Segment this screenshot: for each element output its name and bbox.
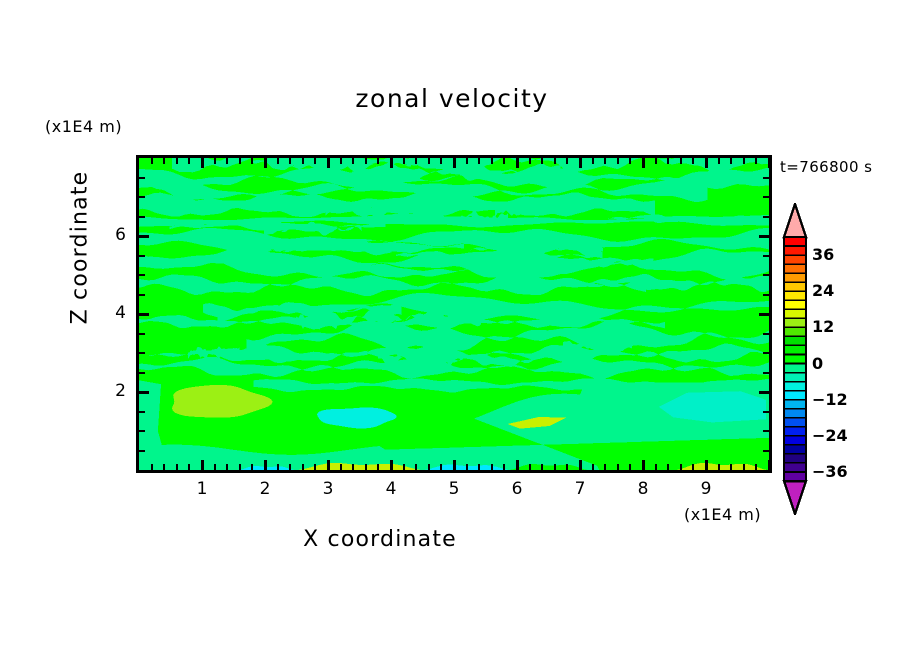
x-tick-label: 2 bbox=[245, 479, 285, 499]
axis-tick bbox=[692, 158, 694, 164]
colorbar-tick-label: −24 bbox=[812, 426, 848, 445]
axis-tick bbox=[139, 177, 145, 179]
axis-tick bbox=[529, 464, 531, 470]
axis-tick bbox=[139, 333, 145, 335]
axis-tick bbox=[239, 158, 241, 164]
axis-tick bbox=[277, 464, 279, 470]
axis-tick bbox=[139, 255, 145, 257]
axis-tick bbox=[163, 464, 165, 470]
axis-tick bbox=[176, 158, 178, 164]
axis-tick bbox=[617, 158, 619, 164]
axis-tick bbox=[264, 158, 267, 168]
axis-tick bbox=[759, 313, 769, 316]
axis-tick bbox=[139, 391, 149, 394]
colorbar-tick-label: 24 bbox=[812, 281, 834, 300]
x-tick-label: 3 bbox=[308, 479, 348, 499]
axis-tick bbox=[763, 196, 769, 198]
axis-tick bbox=[692, 464, 694, 470]
axis-tick bbox=[340, 464, 342, 470]
colorbar bbox=[780, 203, 810, 515]
time-stamp: t=766800 s bbox=[780, 158, 872, 176]
axis-tick bbox=[163, 158, 165, 164]
plot-canvas: zonal velocity (x1E4 m) (x1E4 m) t=76680… bbox=[0, 0, 904, 654]
axis-tick bbox=[139, 411, 145, 413]
axis-tick bbox=[314, 158, 316, 164]
axis-tick bbox=[516, 460, 519, 470]
x-tick-label: 8 bbox=[623, 479, 663, 499]
axis-tick bbox=[579, 158, 582, 168]
axis-tick bbox=[377, 464, 379, 470]
axis-tick bbox=[541, 158, 543, 164]
axis-tick bbox=[768, 460, 771, 470]
axis-tick bbox=[340, 158, 342, 164]
axis-tick bbox=[453, 460, 456, 470]
colorbar-tick-label: −36 bbox=[812, 462, 848, 481]
axis-tick bbox=[428, 464, 430, 470]
axis-tick bbox=[566, 464, 568, 470]
axis-tick bbox=[139, 294, 145, 296]
axis-tick bbox=[617, 464, 619, 470]
x-tick-label: 1 bbox=[182, 479, 222, 499]
axis-tick bbox=[214, 158, 216, 164]
axis-tick bbox=[503, 158, 505, 164]
axis-tick bbox=[302, 464, 304, 470]
axis-tick bbox=[705, 158, 708, 168]
axis-tick bbox=[604, 464, 606, 470]
axis-tick bbox=[763, 216, 769, 218]
axis-tick bbox=[763, 411, 769, 413]
axis-tick bbox=[139, 450, 145, 452]
x-tick-label: 5 bbox=[434, 479, 474, 499]
axis-tick bbox=[453, 158, 456, 168]
axis-tick bbox=[139, 235, 149, 238]
axis-tick bbox=[763, 255, 769, 257]
axis-tick bbox=[403, 464, 405, 470]
axis-tick bbox=[763, 352, 769, 354]
x-tick-label: 9 bbox=[686, 479, 726, 499]
axis-tick bbox=[763, 274, 769, 276]
axis-tick bbox=[188, 464, 190, 470]
axis-tick bbox=[239, 464, 241, 470]
x-axis-unit-label: (x1E4 m) bbox=[684, 505, 761, 524]
axis-tick bbox=[743, 158, 745, 164]
y-tick-label: 2 bbox=[86, 381, 126, 401]
axis-tick bbox=[759, 391, 769, 394]
axis-tick bbox=[579, 460, 582, 470]
axis-tick bbox=[763, 333, 769, 335]
axis-tick bbox=[251, 158, 253, 164]
colorbar-tick-label: 0 bbox=[812, 354, 823, 373]
axis-tick bbox=[592, 158, 594, 164]
axis-tick bbox=[743, 464, 745, 470]
axis-tick bbox=[226, 464, 228, 470]
axis-tick bbox=[302, 158, 304, 164]
axis-tick bbox=[176, 464, 178, 470]
axis-tick bbox=[403, 158, 405, 164]
axis-tick bbox=[226, 158, 228, 164]
contour-field bbox=[139, 158, 769, 470]
axis-tick bbox=[655, 158, 657, 164]
axis-tick bbox=[768, 158, 771, 168]
axis-tick bbox=[491, 464, 493, 470]
x-tick-label: 6 bbox=[497, 479, 537, 499]
axis-tick bbox=[139, 274, 145, 276]
colorbar-swatches bbox=[780, 203, 810, 515]
axis-tick bbox=[139, 372, 145, 374]
axis-tick bbox=[466, 158, 468, 164]
axis-tick bbox=[466, 464, 468, 470]
axis-tick bbox=[251, 464, 253, 470]
axis-tick bbox=[642, 460, 645, 470]
axis-tick bbox=[730, 464, 732, 470]
axis-tick bbox=[718, 158, 720, 164]
axis-tick bbox=[554, 158, 556, 164]
axis-tick bbox=[516, 158, 519, 168]
axis-tick bbox=[139, 216, 145, 218]
axis-tick bbox=[289, 464, 291, 470]
axis-tick bbox=[541, 464, 543, 470]
contour-plot-area bbox=[136, 155, 772, 473]
axis-tick bbox=[763, 177, 769, 179]
axis-tick bbox=[264, 460, 267, 470]
axis-tick bbox=[604, 158, 606, 164]
axis-tick bbox=[755, 464, 757, 470]
axis-tick bbox=[214, 464, 216, 470]
axis-tick bbox=[554, 464, 556, 470]
axis-tick bbox=[718, 464, 720, 470]
axis-tick bbox=[390, 460, 393, 470]
axis-tick bbox=[763, 430, 769, 432]
axis-tick bbox=[352, 158, 354, 164]
x-axis-title: X coordinate bbox=[0, 527, 760, 552]
axis-tick bbox=[327, 158, 330, 168]
colorbar-tick-label: 36 bbox=[812, 245, 834, 264]
axis-tick bbox=[390, 158, 393, 168]
colorbar-tick-label: −12 bbox=[812, 390, 848, 409]
axis-tick bbox=[440, 464, 442, 470]
axis-tick bbox=[759, 235, 769, 238]
axis-tick bbox=[415, 158, 417, 164]
x-tick-label: 4 bbox=[371, 479, 411, 499]
axis-tick bbox=[478, 464, 480, 470]
axis-tick bbox=[478, 158, 480, 164]
axis-tick bbox=[705, 460, 708, 470]
axis-tick bbox=[529, 158, 531, 164]
axis-tick bbox=[440, 158, 442, 164]
axis-tick bbox=[365, 158, 367, 164]
axis-tick bbox=[139, 352, 145, 354]
axis-tick bbox=[566, 158, 568, 164]
axis-tick bbox=[667, 158, 669, 164]
axis-tick bbox=[642, 158, 645, 168]
axis-tick bbox=[188, 158, 190, 164]
axis-tick bbox=[680, 158, 682, 164]
x-tick-label: 7 bbox=[560, 479, 600, 499]
axis-tick bbox=[139, 430, 145, 432]
axis-tick bbox=[503, 464, 505, 470]
axis-tick bbox=[667, 464, 669, 470]
axis-tick bbox=[377, 158, 379, 164]
page-title: zonal velocity bbox=[0, 84, 904, 113]
axis-tick bbox=[365, 464, 367, 470]
axis-tick bbox=[289, 158, 291, 164]
axis-tick bbox=[314, 464, 316, 470]
axis-tick bbox=[629, 464, 631, 470]
axis-tick bbox=[415, 464, 417, 470]
axis-tick bbox=[352, 464, 354, 470]
axis-tick bbox=[629, 158, 631, 164]
axis-tick bbox=[730, 158, 732, 164]
axis-tick bbox=[755, 158, 757, 164]
axis-tick bbox=[763, 294, 769, 296]
axis-tick bbox=[763, 450, 769, 452]
axis-tick bbox=[151, 464, 153, 470]
axis-tick bbox=[655, 464, 657, 470]
axis-tick bbox=[139, 196, 145, 198]
axis-tick bbox=[491, 158, 493, 164]
axis-tick bbox=[277, 158, 279, 164]
axis-tick bbox=[139, 313, 149, 316]
axis-tick bbox=[201, 158, 204, 168]
axis-tick bbox=[592, 464, 594, 470]
axis-tick bbox=[327, 460, 330, 470]
axis-tick bbox=[428, 158, 430, 164]
axis-tick bbox=[201, 460, 204, 470]
axis-tick bbox=[151, 158, 153, 164]
axis-tick bbox=[680, 464, 682, 470]
colorbar-tick-label: 12 bbox=[812, 317, 834, 336]
y-axis-title: Z coordinate bbox=[68, 128, 93, 368]
axis-tick bbox=[763, 372, 769, 374]
